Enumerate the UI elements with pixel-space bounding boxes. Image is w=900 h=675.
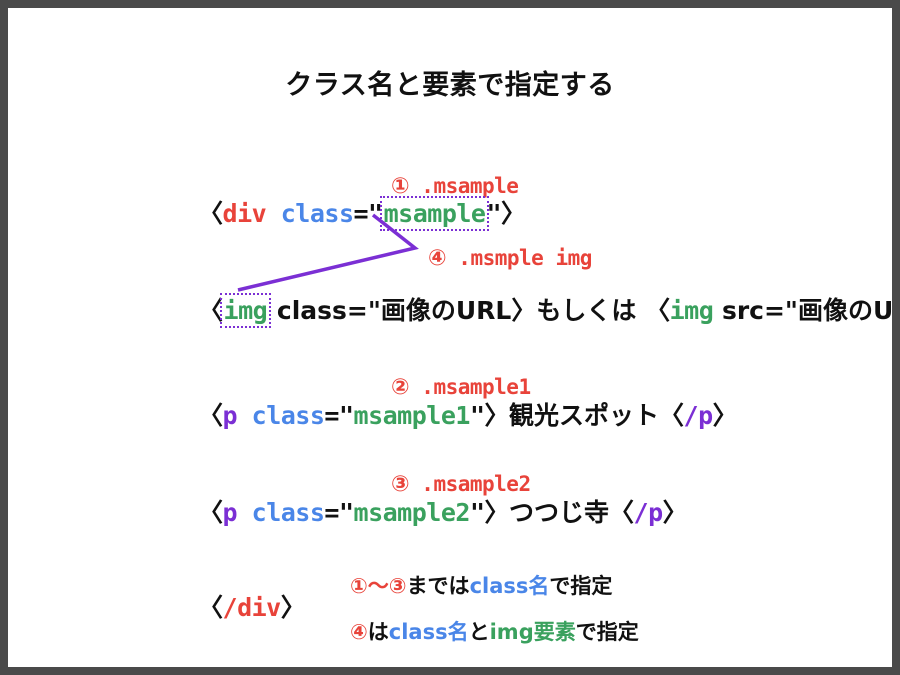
code-space (266, 199, 281, 228)
legend-row-1-highlight: class名 (470, 574, 550, 598)
quote-close-bracket: "〉 (470, 498, 509, 527)
angle-bracket-close-icon: 〉 (663, 498, 688, 527)
quote-close: " (486, 199, 501, 228)
legend-row-2-highlight-green: img要素 (490, 620, 576, 644)
angle-bracket-open-icon: 〈 (198, 593, 223, 622)
code-line-div-open: 〈div class="msample"〉 (198, 194, 526, 230)
class-value-msample2: msample2 (354, 498, 470, 527)
img-src-text: src="画像のURL〉 (713, 296, 892, 325)
code-space (237, 401, 252, 430)
code-space (237, 498, 252, 527)
legend-row-2-text-a: は (368, 620, 389, 644)
annotation-4-marker: ④ (428, 246, 446, 271)
legend-row-1-text-b: で指定 (549, 574, 612, 598)
legend-row-2-text-c: で指定 (576, 620, 639, 644)
slide-frame: クラス名と要素で指定する ① .msample 〈div class="msam… (8, 8, 892, 667)
angle-bracket-open-icon-close: 〈 (609, 498, 634, 527)
legend-row-2-text-b: と (469, 620, 490, 644)
connector-arrow-icon (8, 8, 892, 667)
equals-quote: =" (354, 199, 383, 228)
legend-row-2-highlight-blue: class名 (389, 620, 469, 644)
code-line-p-msample2: 〈p class="msample2"〉つつじ寺〈/p〉 (198, 493, 687, 529)
class-value-msample: msample (383, 199, 487, 228)
page-title: クラス名と要素で指定する (8, 63, 892, 102)
legend-marker-4: ④ (350, 620, 368, 644)
angle-bracket-open-icon: 〈 (198, 401, 223, 430)
angle-bracket-open-icon-close: 〈 (659, 401, 684, 430)
tag-name-img-2: img (670, 296, 714, 325)
attr-class: class (252, 401, 325, 430)
attr-class: class (281, 199, 354, 228)
angle-bracket-open-icon-2: 〈 (645, 296, 670, 325)
tag-name-p: p (223, 498, 238, 527)
img-attr-text: class="画像のURL〉 (268, 296, 536, 325)
close-tag-div: /div (223, 593, 281, 622)
angle-bracket-open-icon: 〈 (198, 296, 223, 325)
angle-bracket-close-icon: 〉 (281, 593, 306, 622)
angle-bracket-open-icon: 〈 (198, 498, 223, 527)
angle-bracket-open-icon: 〈 (198, 199, 223, 228)
code-line-img: 〈img class="画像のURL〉もしくは 〈img src="画像のURL… (198, 291, 892, 327)
tag-name-img: img (223, 296, 269, 325)
attr-class: class (252, 498, 325, 527)
code-line-p-msample1: 〈p class="msample1"〉観光スポット〈/p〉 (198, 396, 737, 432)
close-tag-p: /p (634, 498, 663, 527)
close-tag-p: /p (684, 401, 713, 430)
tag-name-p: p (223, 401, 238, 430)
angle-bracket-close-icon: 〉 (501, 199, 526, 228)
annotation-4: ④ .msmple img (428, 246, 592, 271)
tag-name-div: div (223, 199, 267, 228)
class-value-msample1: msample1 (354, 401, 470, 430)
img-middle-text: もしくは (536, 296, 645, 325)
legend-row-1: ①～③まではclass名で指定 (350, 570, 612, 600)
equals-quote: =" (324, 498, 353, 527)
legend-markers-1-3: ①～③ (350, 574, 407, 598)
annotation-4-text: .msmple img (458, 246, 592, 270)
quote-close-bracket: "〉 (470, 401, 509, 430)
legend-row-1-text-a: までは (407, 574, 470, 598)
legend-row-2: ④はclass名とimg要素で指定 (350, 616, 639, 646)
text-content-tsutsujidera: つつじ寺 (509, 498, 609, 527)
angle-bracket-close-icon: 〉 (713, 401, 738, 430)
code-line-div-close: 〈/div〉 (198, 588, 305, 624)
equals-quote: =" (324, 401, 353, 430)
text-content-kanko: 観光スポット (509, 401, 659, 430)
